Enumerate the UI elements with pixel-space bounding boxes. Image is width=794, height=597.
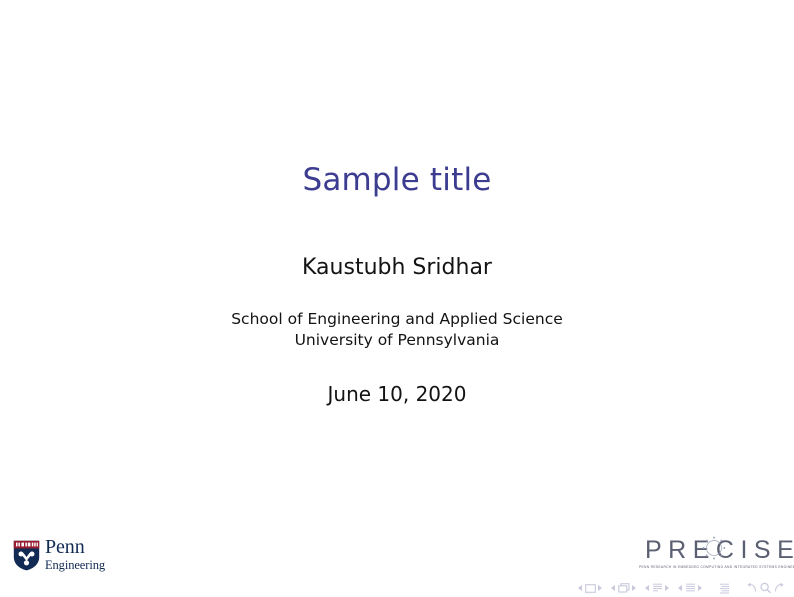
frame-navigation-group[interactable] bbox=[611, 583, 636, 593]
penn-logo-word-engineering: Engineering bbox=[45, 559, 105, 572]
history-controls[interactable] bbox=[745, 582, 786, 594]
penn-logo-wordmark: Penn Engineering bbox=[45, 538, 105, 572]
beamer-navigation-bar[interactable] bbox=[578, 582, 786, 594]
redo-arrow-icon[interactable] bbox=[773, 582, 786, 594]
page-title: Sample title bbox=[0, 163, 794, 197]
previous-subsection-icon[interactable] bbox=[645, 585, 649, 591]
precise-tagline: PENN RESEARCH IN EMBEDDED COMPUTING AND … bbox=[639, 565, 784, 569]
next-slide-icon[interactable] bbox=[598, 585, 602, 591]
previous-section-icon[interactable] bbox=[678, 585, 682, 591]
frames-icon[interactable] bbox=[618, 583, 630, 593]
next-section-icon[interactable] bbox=[698, 585, 702, 591]
section-navigation-group[interactable] bbox=[678, 583, 702, 593]
penn-shield-icon bbox=[13, 540, 40, 571]
square-icon[interactable] bbox=[585, 584, 596, 593]
penn-engineering-logo: Penn Engineering bbox=[13, 538, 105, 572]
author-name: Kaustubh Sridhar bbox=[0, 255, 794, 280]
undo-arrow-icon[interactable] bbox=[745, 582, 758, 594]
subsection-lines-icon[interactable] bbox=[652, 583, 663, 593]
institute-line-school: School of Engineering and Applied Scienc… bbox=[0, 309, 794, 330]
document-lines-icon[interactable] bbox=[719, 583, 730, 594]
presentation-date: June 10, 2020 bbox=[0, 383, 794, 406]
magnifier-icon[interactable] bbox=[759, 582, 772, 594]
precise-wordmark-text: PRECISE bbox=[645, 536, 794, 564]
precise-logo: PRECISE PENN RESEARCH IN EMBEDDED COMPUT… bbox=[639, 538, 784, 569]
next-subsection-icon[interactable] bbox=[665, 585, 669, 591]
penn-logo-word-penn: Penn bbox=[45, 538, 105, 558]
section-lines-icon[interactable] bbox=[685, 583, 696, 593]
next-frame-icon[interactable] bbox=[632, 585, 636, 591]
previous-slide-icon[interactable] bbox=[578, 585, 582, 591]
precise-wordmark: PRECISE bbox=[639, 538, 784, 563]
presentation-title-slide: Sample title Kaustubh Sridhar School of … bbox=[0, 0, 794, 597]
subsection-navigation-group[interactable] bbox=[645, 583, 669, 593]
slide-navigation-group[interactable] bbox=[578, 584, 602, 593]
institute: School of Engineering and Applied Scienc… bbox=[0, 309, 794, 352]
institute-line-university: University of Pennsylvania bbox=[0, 330, 794, 351]
previous-frame-icon[interactable] bbox=[611, 585, 615, 591]
